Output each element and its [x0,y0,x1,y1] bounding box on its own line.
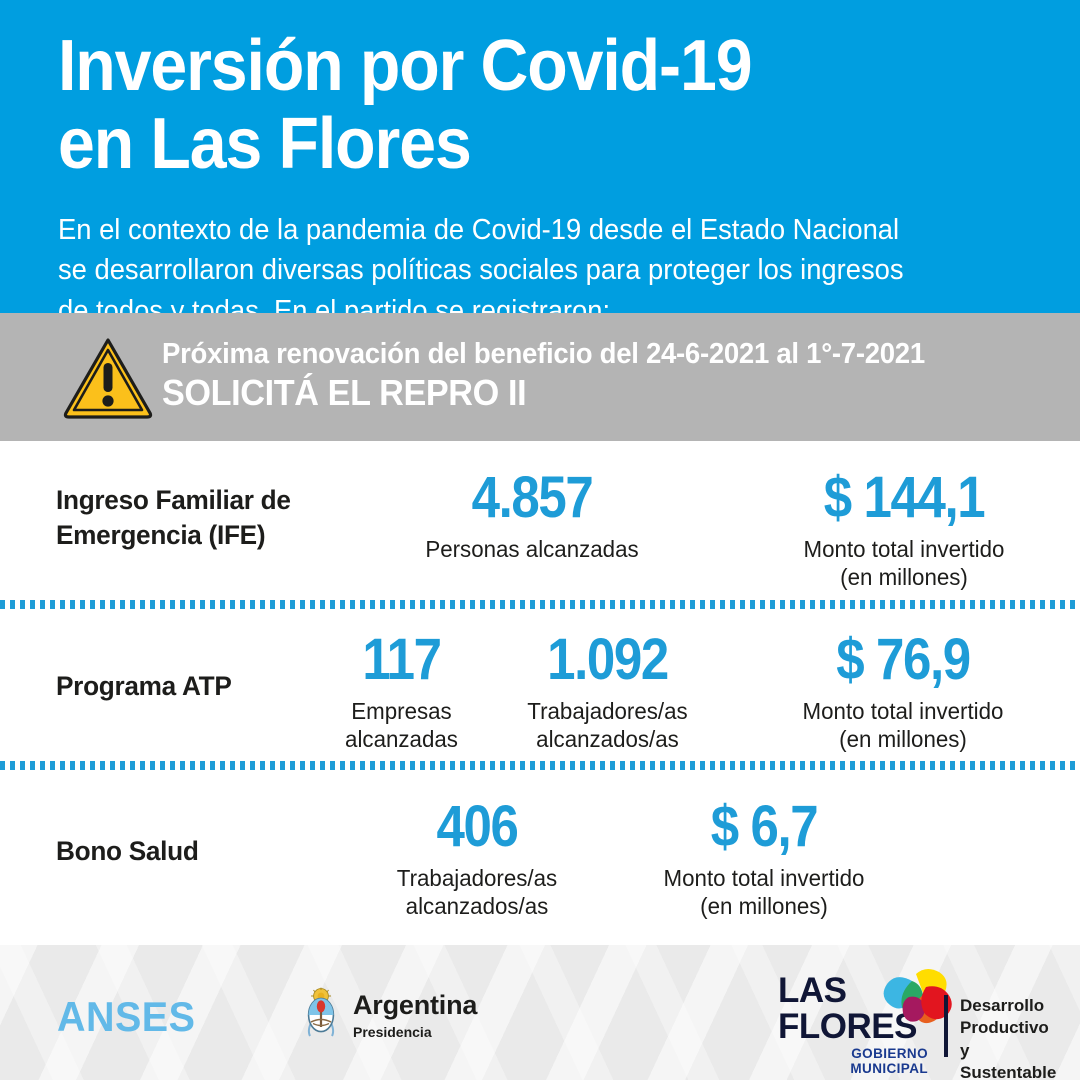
anses-logo: ANSES [57,993,195,1041]
las-flores-tagline: Desarrollo Productivo y Sustentable [960,995,1056,1080]
metric-atp-amount: $ 76,9 Monto total invertido (en millone… [753,631,1053,753]
row-label-bono-salud: Bono Salud [56,798,303,869]
presidencia-label: Presidencia [353,1025,477,1039]
metric-caption: Monto total invertido (en millones) [623,864,904,920]
infographic-page: Inversión por Covid-19 en Las Flores En … [0,0,1080,1080]
metric-value: 4.857 [400,469,664,527]
metric-ife-amount: $ 144,1 Monto total invertido (en millon… [734,469,1074,591]
metric-value: 1.092 [513,631,702,689]
table-row: Ingreso Familiar de Emergencia (IFE) 4.8… [0,441,1080,599]
row-separator [0,599,1080,609]
metric-value: 117 [320,631,483,689]
metric-value: $ 144,1 [754,469,1053,527]
alert-banner: Próxima renovación del beneficio del 24-… [0,313,1080,441]
metric-atp-workers: 1.092 Trabajadores/as alcanzados/as [500,631,715,753]
footer-bar: ANSES [0,945,1080,1080]
metric-ife-people: 4.857 Personas alcanzadas [382,469,682,563]
metric-value: $ 6,7 [636,798,891,856]
argentina-coat-of-arms-icon [300,987,342,1044]
table-row: Bono Salud 406 Trabajadores/as alcanzado… [0,770,1080,930]
logo-divider [944,995,948,1057]
page-title: Inversión por Covid-19 en Las Flores [58,28,950,184]
alert-text-group: Próxima renovación del beneficio del 24-… [162,337,965,418]
argentina-text-block: Argentina Presidencia [353,992,477,1039]
argentina-label: Argentina [353,992,477,1019]
metric-bono-amount: $ 6,7 Monto total invertido (en millones… [619,798,909,920]
alert-renewal-period: Próxima renovación del beneficio del 24-… [162,337,925,371]
metric-caption: Trabajadores/as alcanzados/as [503,697,712,753]
metric-caption: Trabajadores/as alcanzados/as [361,864,594,920]
data-rows: Ingreso Familiar de Emergencia (IFE) 4.8… [0,441,1080,930]
row-separator [0,760,1080,770]
metric-value: $ 76,9 [771,631,1035,689]
metric-value: 406 [371,798,582,856]
alert-call-to-action: SOLICITÁ EL REPRO II [162,373,925,413]
table-row: Programa ATP 117 Empresas alcanzadas 1.0… [0,609,1080,760]
row-label-ife: Ingreso Familiar de Emergencia (IFE) [56,469,386,552]
metric-bono-workers: 406 Trabajadores/as alcanzados/as [357,798,597,920]
argentina-presidencia-logo: Argentina Presidencia [300,987,477,1044]
metric-caption: Monto total invertido (en millones) [739,535,1069,591]
las-flores-logo: LAS FLORES GOBIERNO MUNICIPAL Desarr [778,967,1046,1065]
warning-triangle-icon [62,335,154,419]
row-label-atp: Programa ATP [56,631,284,704]
metric-caption: Empresas alcanzadas [312,697,491,753]
metric-atp-companies: 117 Empresas alcanzadas [309,631,494,753]
gobierno-municipal-label: GOBIERNO MUNICIPAL [778,1046,928,1076]
metric-caption: Personas alcanzadas [387,535,678,563]
metric-caption: Monto total invertido (en millones) [758,697,1049,753]
header-banner: Inversión por Covid-19 en Las Flores En … [0,0,1080,313]
